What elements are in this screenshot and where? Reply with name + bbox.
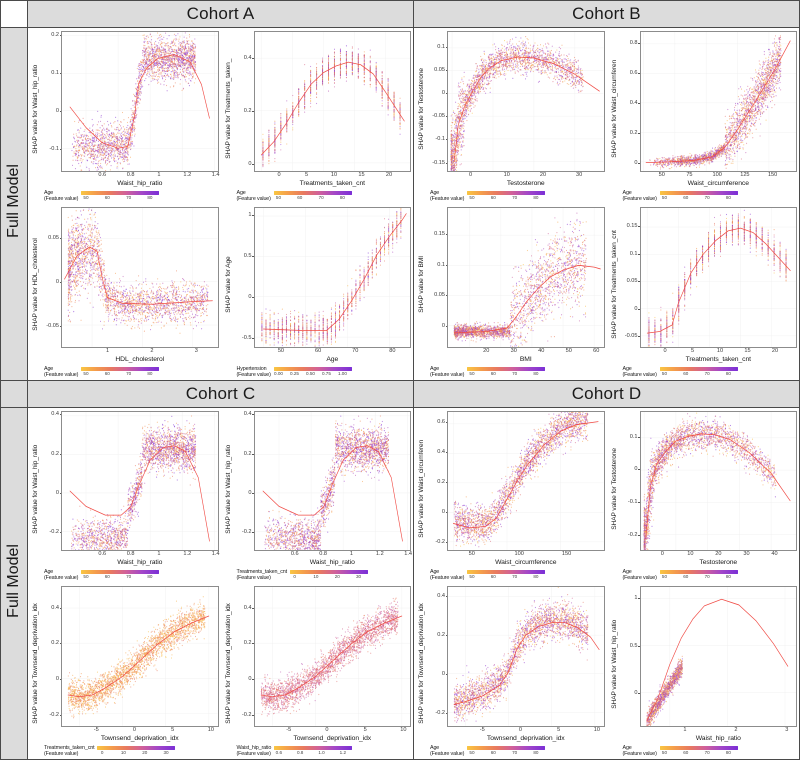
y-axis-ticks: -0.2-0.100.1	[620, 411, 640, 552]
plot-area: SHAP value for Treatments_taken_cnt-0.05…	[609, 207, 798, 363]
y-axis-label: SHAP value for Townsend_deprivation_idx	[416, 586, 427, 742]
color-legend: Age(Feature value)50607080	[430, 744, 605, 758]
header-cohort-a: Cohort A	[28, 1, 414, 28]
legend-tick-label: 50	[662, 371, 667, 376]
y-tick-label: 0	[248, 490, 251, 496]
legend-tick-label: 20	[335, 574, 340, 579]
legend-tick-label: 1.0	[318, 750, 324, 755]
x-tick-label: -5	[286, 727, 291, 733]
legend-tick-label: 70	[126, 195, 131, 200]
y-tick-label: 0.8	[630, 40, 638, 46]
x-axis-ticks: 0.60.811.21.4	[254, 551, 412, 560]
y-tick-label: 0.2	[244, 451, 252, 457]
legend-tick-label: 70	[512, 371, 517, 376]
y-tick-label: 0.4	[437, 593, 445, 599]
x-axis-ticks: -50510	[61, 727, 219, 736]
header-cohort-d: Cohort D	[414, 380, 800, 407]
legend-tick-label: 0.50	[306, 371, 315, 376]
y-axis-ticks: -0.0500.05	[41, 207, 61, 348]
y-tick-label: 0	[442, 90, 445, 96]
legend-feature-name: Age(Feature value)	[623, 569, 657, 581]
legend-tick-label: 70	[319, 195, 324, 200]
x-axis-ticks: 2030405060	[447, 348, 605, 357]
y-tick-label: 0.6	[630, 70, 638, 76]
x-tick-label: 1	[157, 172, 160, 178]
y-tick-label: 0.4	[437, 449, 445, 455]
x-axis-ticks: 0102030	[447, 172, 605, 181]
legend-tick-label: 0	[293, 574, 296, 579]
legend-colorbar: 0.000.250.500.751.00	[274, 367, 352, 377]
shap-plot-b4: SHAP value for Treatments_taken_cnt-0.05…	[607, 204, 800, 380]
y-tick-label: 0.2	[51, 640, 59, 646]
legend-tick-label: 80	[533, 574, 538, 579]
x-tick-label: 10	[687, 551, 693, 557]
plot-area: SHAP value for Waist_hip_ratio-0.200.20.…	[223, 411, 412, 567]
scatter-canvas	[254, 207, 412, 348]
y-axis-label: SHAP value for Age	[223, 207, 234, 363]
y-axis-label: SHAP value for Waist_hip_ratio	[30, 31, 41, 187]
y-tick-label: -0.2	[628, 532, 638, 538]
color-legend: Hypertension(Feature value)0.000.250.500…	[237, 365, 412, 379]
x-tick-label: 20	[386, 172, 392, 178]
legend-tick-label: 70	[126, 574, 131, 579]
x-tick-label: 125	[740, 172, 749, 178]
y-tick-label: 0.4	[244, 411, 252, 417]
legend-tick-label: 30	[164, 750, 169, 755]
y-axis-label: SHAP value for Treatments_taken_	[223, 31, 234, 187]
legend-tick-label: 60	[105, 195, 110, 200]
plot-area: SHAP value for Townsend_deprivation_idx-…	[416, 586, 605, 742]
scatter-canvas	[447, 411, 605, 552]
x-axis-label: Waist_hip_ratio	[61, 180, 219, 187]
scatter-canvas	[61, 586, 219, 727]
figure-root: Cohort A Cohort B Full Model SHAP value …	[0, 0, 800, 760]
y-tick-label: -0.05	[625, 333, 638, 339]
plot-area: SHAP value for Waist_hip_ratio-0.200.20.…	[30, 411, 219, 567]
y-axis-ticks: -0.100.10.2	[41, 31, 61, 172]
shap-plot-c4: SHAP value for Townsend_deprivation_idx-…	[221, 583, 414, 759]
color-legend: Age(Feature value)50607080	[430, 365, 605, 379]
x-axis-ticks: 50607080	[254, 348, 412, 357]
legend-tick-label: 50	[662, 574, 667, 579]
x-tick-label: 50	[566, 348, 572, 354]
y-tick-label: 0	[56, 490, 59, 496]
x-axis-ticks: 0.60.811.21.4	[61, 172, 219, 181]
shap-plot-a3: SHAP value for HDL_cholesterol-0.0500.05…	[28, 204, 221, 380]
shap-plot-b3: SHAP value for BMI00.050.10.152030405060…	[414, 204, 607, 380]
x-axis-ticks: 123	[61, 348, 219, 357]
x-tick-label: 3	[785, 727, 788, 733]
y-tick-label: 0.4	[244, 55, 252, 61]
legend-tick-label: 70	[126, 371, 131, 376]
x-axis-ticks: -50510	[447, 727, 605, 736]
color-legend: Treatments_taken_cnt(Feature value)01020…	[237, 568, 412, 582]
x-axis-label: Townsend_deprivation_idx	[61, 735, 219, 742]
y-axis-label: SHAP value for Townsend_deprivation_idx	[223, 586, 234, 742]
scatter-canvas	[640, 586, 798, 727]
legend-tick-label: 1.2	[340, 750, 346, 755]
plot-area: SHAP value for Waist_circumferen00.20.40…	[609, 31, 798, 187]
x-axis-label: Treatments_taken_cnt	[640, 356, 798, 363]
corner-cell-top	[1, 1, 28, 28]
x-tick-label: 1.4	[212, 551, 220, 557]
legend-tick-label: 60	[683, 750, 688, 755]
y-tick-label: -0.1	[435, 136, 445, 142]
x-tick-label: 1.4	[212, 172, 220, 178]
header-cohort-b: Cohort B	[414, 1, 800, 28]
shap-plot-d4: SHAP value for Waist_hip_ratio00.51123Wa…	[607, 583, 800, 759]
y-axis-ticks: 00.050.10.15	[427, 207, 447, 348]
x-tick-label: 100	[514, 551, 523, 557]
y-axis-ticks: 00.20.4	[234, 31, 254, 172]
y-axis-label: SHAP value for Waist_circumferen	[609, 31, 620, 187]
x-tick-label: 0	[277, 172, 280, 178]
panel-cohort-b: SHAP value for Testosterone-0.15-0.1-0.0…	[414, 28, 800, 381]
y-axis-ticks: -0.500.51	[234, 207, 254, 348]
y-tick-label: 0.4	[244, 605, 252, 611]
legend-tick-label: 70	[705, 574, 710, 579]
legend-feature-name: Age(Feature value)	[44, 190, 78, 202]
x-tick-label: 75	[686, 172, 692, 178]
y-tick-label: 0.6	[437, 419, 445, 425]
x-tick-label: 15	[358, 172, 364, 178]
x-tick-label: 20	[772, 348, 778, 354]
legend-tick-label: 70	[705, 195, 710, 200]
x-tick-label: 2	[734, 727, 737, 733]
legend-tick-label: 50	[469, 195, 474, 200]
y-tick-label: 0.1	[630, 251, 638, 257]
x-tick-label: 2	[150, 348, 153, 354]
x-axis-ticks: 010203040	[640, 551, 798, 560]
color-legend: Age(Feature value)50607080	[237, 189, 412, 203]
legend-feature-name: Age(Feature value)	[237, 190, 271, 202]
color-legend: Age(Feature value)50607080	[430, 189, 605, 203]
legend-colorbar: 0.60.81.01.2	[274, 746, 352, 756]
scatter-canvas	[447, 31, 605, 172]
shap-plot-d2: SHAP value for Testosterone-0.2-0.100.10…	[607, 408, 800, 584]
y-tick-label: 1	[634, 595, 637, 601]
y-tick-label: 0.2	[630, 130, 638, 136]
x-tick-label: 20	[483, 348, 489, 354]
legend-tick-label: 80	[726, 574, 731, 579]
y-tick-label: -0.05	[46, 323, 59, 329]
color-legend: Age(Feature value)50607080	[44, 365, 219, 379]
plot-area: SHAP value for Townsend_deprivation_idx-…	[30, 586, 219, 742]
row-label-text-bottom: Full Model	[5, 544, 23, 618]
x-axis-label: Age	[254, 356, 412, 363]
y-tick-label: 0.05	[48, 235, 59, 241]
legend-tick-label: 70	[512, 574, 517, 579]
color-legend: Age(Feature value)50607080	[623, 568, 798, 582]
legend-tick-label: 80	[533, 371, 538, 376]
color-legend: Age(Feature value)50607080	[623, 365, 798, 379]
header-row-top: Cohort A Cohort B	[1, 1, 800, 28]
y-tick-label: 0.2	[244, 640, 252, 646]
x-tick-label: 10	[400, 727, 406, 733]
x-tick-label: 0	[663, 348, 666, 354]
x-axis-ticks: 123	[640, 727, 798, 736]
x-tick-label: 0.6	[291, 551, 299, 557]
legend-feature-name: Age(Feature value)	[430, 569, 464, 581]
shap-plot-c3: SHAP value for Townsend_deprivation_idx-…	[28, 583, 221, 759]
y-tick-label: 0.1	[51, 70, 59, 76]
x-axis-label: Townsend_deprivation_idx	[447, 735, 605, 742]
y-tick-label: 1	[248, 212, 251, 218]
legend-tick-label: 1.00	[338, 371, 347, 376]
scatter-canvas	[447, 586, 605, 727]
legend-tick-label: 70	[705, 750, 710, 755]
header-cohort-c: Cohort C	[28, 380, 414, 407]
y-tick-label: 0	[442, 671, 445, 677]
x-tick-label: 30	[743, 551, 749, 557]
legend-tick-label: 80	[147, 371, 152, 376]
legend-colorbar: 0102030	[97, 746, 175, 756]
x-tick-label: 0	[661, 551, 664, 557]
x-tick-label: 0.8	[319, 551, 327, 557]
y-tick-label: 0.1	[437, 262, 445, 268]
x-tick-label: 0	[519, 727, 522, 733]
y-tick-label: -0.2	[435, 710, 445, 716]
legend-tick-label: 50	[469, 574, 474, 579]
legend-tick-label: 60	[105, 574, 110, 579]
y-axis-label: SHAP value for Waist_hip_ratio	[30, 411, 41, 567]
x-tick-label: 0	[133, 727, 136, 733]
legend-colorbar: 50607080	[660, 570, 738, 580]
legend-tick-label: 0.25	[290, 371, 299, 376]
header-row-bottom: Cohort C Cohort D	[1, 380, 800, 407]
legend-feature-name: Hypertension(Feature value)	[237, 366, 271, 378]
content-row-top: Full Model SHAP value for Waist_hip_rati…	[1, 28, 800, 381]
legend-feature-name: Age(Feature value)	[430, 745, 464, 757]
x-tick-label: 1	[106, 348, 109, 354]
panel-cohort-d: SHAP value for Waist_circumferen-0.200.2…	[414, 407, 800, 760]
y-tick-label: -0.5	[242, 335, 252, 341]
scatter-canvas	[640, 31, 798, 172]
x-tick-label: 5	[305, 172, 308, 178]
x-tick-label: 1	[683, 727, 686, 733]
legend-tick-label: 50	[83, 371, 88, 376]
scatter-canvas	[61, 207, 219, 348]
color-legend: Age(Feature value)50607080	[623, 744, 798, 758]
x-tick-label: 1.2	[183, 551, 191, 557]
color-legend: Treatments_taken_cnt(Feature value)01020…	[44, 744, 219, 758]
legend-tick-label: 60	[683, 195, 688, 200]
legend-colorbar: 50607080	[274, 191, 352, 201]
y-tick-label: 0.4	[51, 411, 59, 417]
legend-tick-label: 80	[147, 195, 152, 200]
legend-tick-label: 80	[726, 371, 731, 376]
legend-tick-label: 50	[276, 195, 281, 200]
x-tick-label: 150	[768, 172, 777, 178]
x-tick-label: 5	[691, 348, 694, 354]
x-tick-label: 10	[208, 727, 214, 733]
y-tick-label: -0.2	[435, 539, 445, 545]
plot-area: SHAP value for Waist_hip_ratio-0.100.10.…	[30, 31, 219, 187]
scatter-canvas	[254, 411, 412, 552]
legend-tick-label: 50	[469, 371, 474, 376]
shap-plot-c1: SHAP value for Waist_hip_ratio-0.200.20.…	[28, 408, 221, 584]
x-axis-label: Townsend_deprivation_idx	[254, 735, 412, 742]
x-tick-label: 60	[593, 348, 599, 354]
x-tick-label: 0	[469, 172, 472, 178]
y-tick-label: 0.2	[244, 108, 252, 114]
plot-area: SHAP value for Treatments_taken_00.20.40…	[223, 31, 412, 187]
legend-tick-label: 60	[491, 574, 496, 579]
x-tick-label: 5	[171, 727, 174, 733]
y-tick-label: 0	[442, 323, 445, 329]
y-tick-label: 0.2	[51, 32, 59, 38]
legend-tick-label: 50	[83, 195, 88, 200]
legend-feature-name: Treatments_taken_cnt(Feature value)	[44, 745, 94, 757]
y-tick-label: -0.1	[49, 146, 59, 152]
plot-area: SHAP value for Waist_circumferen-0.200.2…	[416, 411, 605, 567]
x-tick-label: 20	[715, 551, 721, 557]
y-tick-label: 0	[634, 306, 637, 312]
shap-plot-d3: SHAP value for Townsend_deprivation_idx-…	[414, 583, 607, 759]
y-tick-label: 0.2	[51, 451, 59, 457]
row-label-full-model-top: Full Model	[1, 28, 28, 381]
y-tick-label: -0.2	[242, 712, 252, 718]
legend-feature-name: Age(Feature value)	[623, 366, 657, 378]
legend-tick-label: 10	[121, 750, 126, 755]
legend-tick-label: 60	[297, 195, 302, 200]
x-tick-label: 15	[744, 348, 750, 354]
legend-tick-label: 70	[512, 750, 517, 755]
legend-feature-name: Age(Feature value)	[623, 745, 657, 757]
x-tick-label: 0.8	[127, 172, 135, 178]
y-tick-label: 0	[248, 161, 251, 167]
y-axis-label: SHAP value for BMI	[416, 207, 427, 363]
y-axis-ticks: 00.20.40.60.8	[620, 31, 640, 172]
legend-tick-label: 0.8	[297, 750, 303, 755]
y-axis-label: SHAP value for HDL_cholesterol	[30, 207, 41, 363]
y-axis-label: SHAP value for Waist_circumferen	[416, 411, 427, 567]
y-axis-ticks: -0.200.20.40.6	[427, 411, 447, 552]
x-axis-ticks: 0.60.811.21.4	[61, 551, 219, 560]
legend-tick-label: 80	[340, 195, 345, 200]
legend-colorbar: 50607080	[660, 191, 738, 201]
plot-area: SHAP value for BMI00.050.10.152030405060…	[416, 207, 605, 363]
legend-feature-name: Treatments_taken_cnt(Feature value)	[237, 569, 287, 581]
y-tick-label: 0	[442, 509, 445, 515]
legend-colorbar: 50607080	[81, 367, 159, 377]
scatter-canvas	[447, 207, 605, 348]
y-tick-label: 0.15	[434, 231, 445, 237]
y-tick-label: 0.15	[627, 223, 638, 229]
x-axis-label: Waist_hip_ratio	[640, 735, 798, 742]
y-tick-label: 0	[56, 108, 59, 114]
content-row-bottom: Full Model SHAP value for Waist_hip_rati…	[1, 407, 800, 760]
y-axis-ticks: -0.200.20.4	[41, 411, 61, 552]
y-axis-ticks: -0.0500.050.10.15	[620, 207, 640, 348]
x-axis-ticks: 5075100125150	[640, 172, 798, 181]
y-tick-label: -0.2	[49, 529, 59, 535]
x-axis-label: Testosterone	[640, 559, 798, 566]
color-legend: Age(Feature value)50607080	[430, 568, 605, 582]
x-tick-label: 70	[352, 348, 358, 354]
scatter-canvas	[254, 31, 412, 172]
x-tick-label: 1.2	[183, 172, 191, 178]
color-legend: Age(Feature value)50607080	[623, 189, 798, 203]
y-tick-label: -0.15	[432, 160, 445, 166]
x-axis-label: Waist_hip_ratio	[61, 559, 219, 566]
legend-feature-name: Age(Feature value)	[430, 366, 464, 378]
color-legend: Waist_hip_ratio(Feature value)0.60.81.01…	[237, 744, 412, 758]
x-tick-label: 3	[195, 348, 198, 354]
legend-tick-label: 0.00	[274, 371, 283, 376]
legend-feature-name: Waist_hip_ratio(Feature value)	[237, 745, 272, 757]
y-tick-label: 0	[634, 466, 637, 472]
shap-plot-c2: SHAP value for Waist_hip_ratio-0.200.20.…	[221, 408, 414, 584]
legend-tick-label: 60	[491, 750, 496, 755]
shap-plot-b2: SHAP value for Waist_circumferen00.20.40…	[607, 28, 800, 204]
x-axis-label: Waist_hip_ratio	[254, 559, 412, 566]
x-axis-ticks: 05101520	[640, 348, 798, 357]
x-tick-label: 0.8	[127, 551, 135, 557]
x-tick-label: -5	[480, 727, 485, 733]
cohort-grid: Cohort A Cohort B Full Model SHAP value …	[0, 0, 800, 760]
legend-tick-label: 60	[491, 195, 496, 200]
legend-colorbar: 50607080	[467, 191, 545, 201]
legend-tick-label: 80	[726, 750, 731, 755]
x-tick-label: 1.2	[376, 551, 384, 557]
y-tick-label: -0.05	[432, 113, 445, 119]
shap-plot-d1: SHAP value for Waist_circumferen-0.200.2…	[414, 408, 607, 584]
y-tick-label: 0.4	[630, 100, 638, 106]
color-legend: Age(Feature value)50607080	[44, 568, 219, 582]
legend-tick-label: 80	[533, 195, 538, 200]
y-tick-label: 0.1	[630, 434, 638, 440]
x-tick-label: 50	[659, 172, 665, 178]
panel-cohort-a: SHAP value for Waist_hip_ratio-0.100.10.…	[28, 28, 414, 381]
legend-colorbar: 50607080	[81, 191, 159, 201]
y-tick-label: 0.4	[51, 605, 59, 611]
row-label-text-top: Full Model	[5, 164, 23, 238]
legend-tick-label: 50	[469, 750, 474, 755]
x-tick-label: 40	[538, 348, 544, 354]
corner-cell-bottom	[1, 380, 28, 407]
y-axis-label: SHAP value for Waist_hip_ratio	[609, 586, 620, 742]
x-tick-label: 20	[540, 172, 546, 178]
y-tick-label: 0.5	[630, 643, 638, 649]
x-tick-label: 1.4	[404, 551, 412, 557]
y-axis-label: SHAP value for Townsend_deprivation_idx	[30, 586, 41, 742]
x-axis-label: Waist_circumference	[447, 559, 605, 566]
y-axis-label: SHAP value for Waist_hip_ratio	[223, 411, 234, 567]
x-axis-label: Treatments_taken_cnt	[254, 180, 412, 187]
x-tick-label: 1	[350, 551, 353, 557]
legend-tick-label: 60	[105, 371, 110, 376]
scatter-canvas	[254, 586, 412, 727]
x-tick-label: 30	[511, 348, 517, 354]
color-legend: Age(Feature value)50607080	[44, 189, 219, 203]
plot-area: SHAP value for Waist_hip_ratio00.51123Wa…	[609, 586, 798, 742]
x-tick-label: -5	[94, 727, 99, 733]
row-label-full-model-bottom: Full Model	[1, 407, 28, 760]
legend-colorbar: 50607080	[660, 746, 738, 756]
legend-tick-label: 80	[726, 195, 731, 200]
x-tick-label: 0.6	[98, 551, 106, 557]
x-tick-label: 5	[557, 727, 560, 733]
legend-tick-label: 60	[683, 371, 688, 376]
x-tick-label: 50	[469, 551, 475, 557]
legend-tick-label: 70	[512, 195, 517, 200]
shap-plot-a4: SHAP value for Age-0.500.5150607080AgeHy…	[221, 204, 414, 380]
scatter-canvas	[61, 411, 219, 552]
y-axis-ticks: -0.200.20.4	[234, 586, 254, 727]
x-tick-label: 5	[364, 727, 367, 733]
x-tick-label: 40	[771, 551, 777, 557]
